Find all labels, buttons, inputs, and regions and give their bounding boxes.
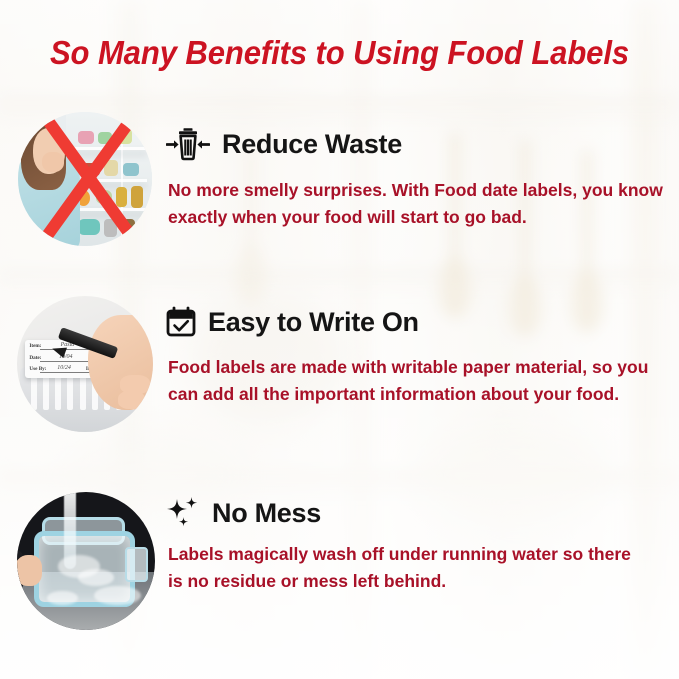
benefit-body-no-mess: Labels magically wash off under running … xyxy=(168,541,648,594)
benefit-headline-row-1: Reduce Waste xyxy=(166,126,402,162)
calendar-check-icon xyxy=(166,306,196,338)
red-x-overlay-icon xyxy=(18,112,152,246)
benefit-heading-no-mess: No Mess xyxy=(212,498,321,529)
label-useby-text: Use By: xyxy=(29,366,46,372)
label-item-text: Item: xyxy=(29,343,41,349)
food-labels-benefits-infographic: So Many Benefits to Using Food Labels xyxy=(0,0,679,679)
benefit-heading-reduce-waste: Reduce Waste xyxy=(222,129,402,160)
benefit-headline-row-2: Easy to Write On xyxy=(166,306,419,338)
benefit-headline-row-3: No Mess xyxy=(166,496,321,530)
trash-can-reduce-icon xyxy=(166,126,210,162)
label-useby-value: 10/24 xyxy=(57,365,71,371)
label-date-text: Date: xyxy=(29,355,41,361)
benefit-body-easy-to-write-on: Food labels are made with writable paper… xyxy=(168,354,660,407)
benefit-heading-easy-to-write-on: Easy to Write On xyxy=(208,307,419,338)
page-title: So Many Benefits to Using Food Labels xyxy=(20,34,658,72)
benefit-body-reduce-waste: No more smelly surprises. With Food date… xyxy=(168,177,668,230)
sparkles-icon xyxy=(166,496,200,530)
benefit-image-no-mess xyxy=(17,492,155,630)
benefit-image-reduce-waste xyxy=(18,112,152,246)
benefit-image-easy-to-write-on: Item: Pasta Date: 10/04 Use By: 10/24 In… xyxy=(17,296,153,432)
